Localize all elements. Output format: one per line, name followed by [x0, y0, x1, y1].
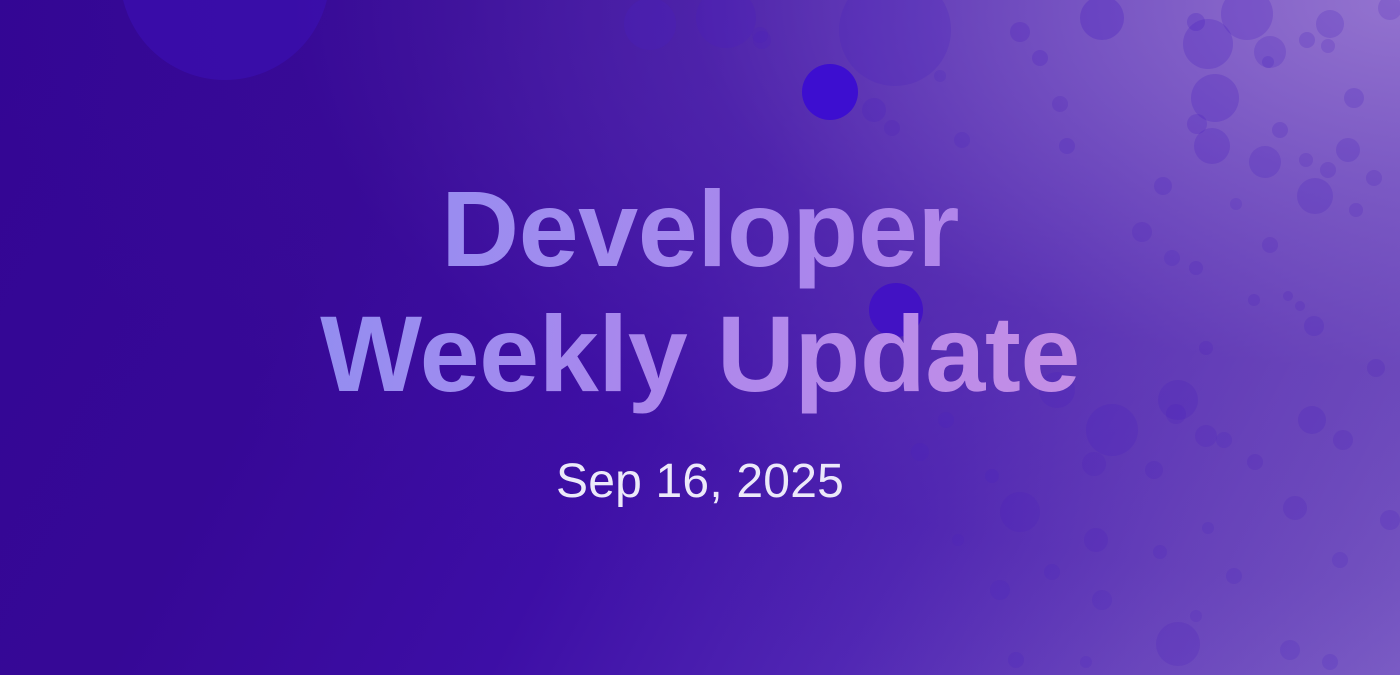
title-line-primary: Developer — [0, 166, 1400, 291]
banner-content: Developer Weekly Update Sep 16, 2025 — [0, 0, 1400, 675]
banner-date: Sep 16, 2025 — [556, 454, 844, 509]
developer-weekly-update-banner: Developer Weekly Update Sep 16, 2025 — [0, 0, 1400, 675]
banner-title: Developer Weekly Update — [0, 166, 1400, 417]
title-line-secondary: Weekly Update — [0, 291, 1400, 416]
